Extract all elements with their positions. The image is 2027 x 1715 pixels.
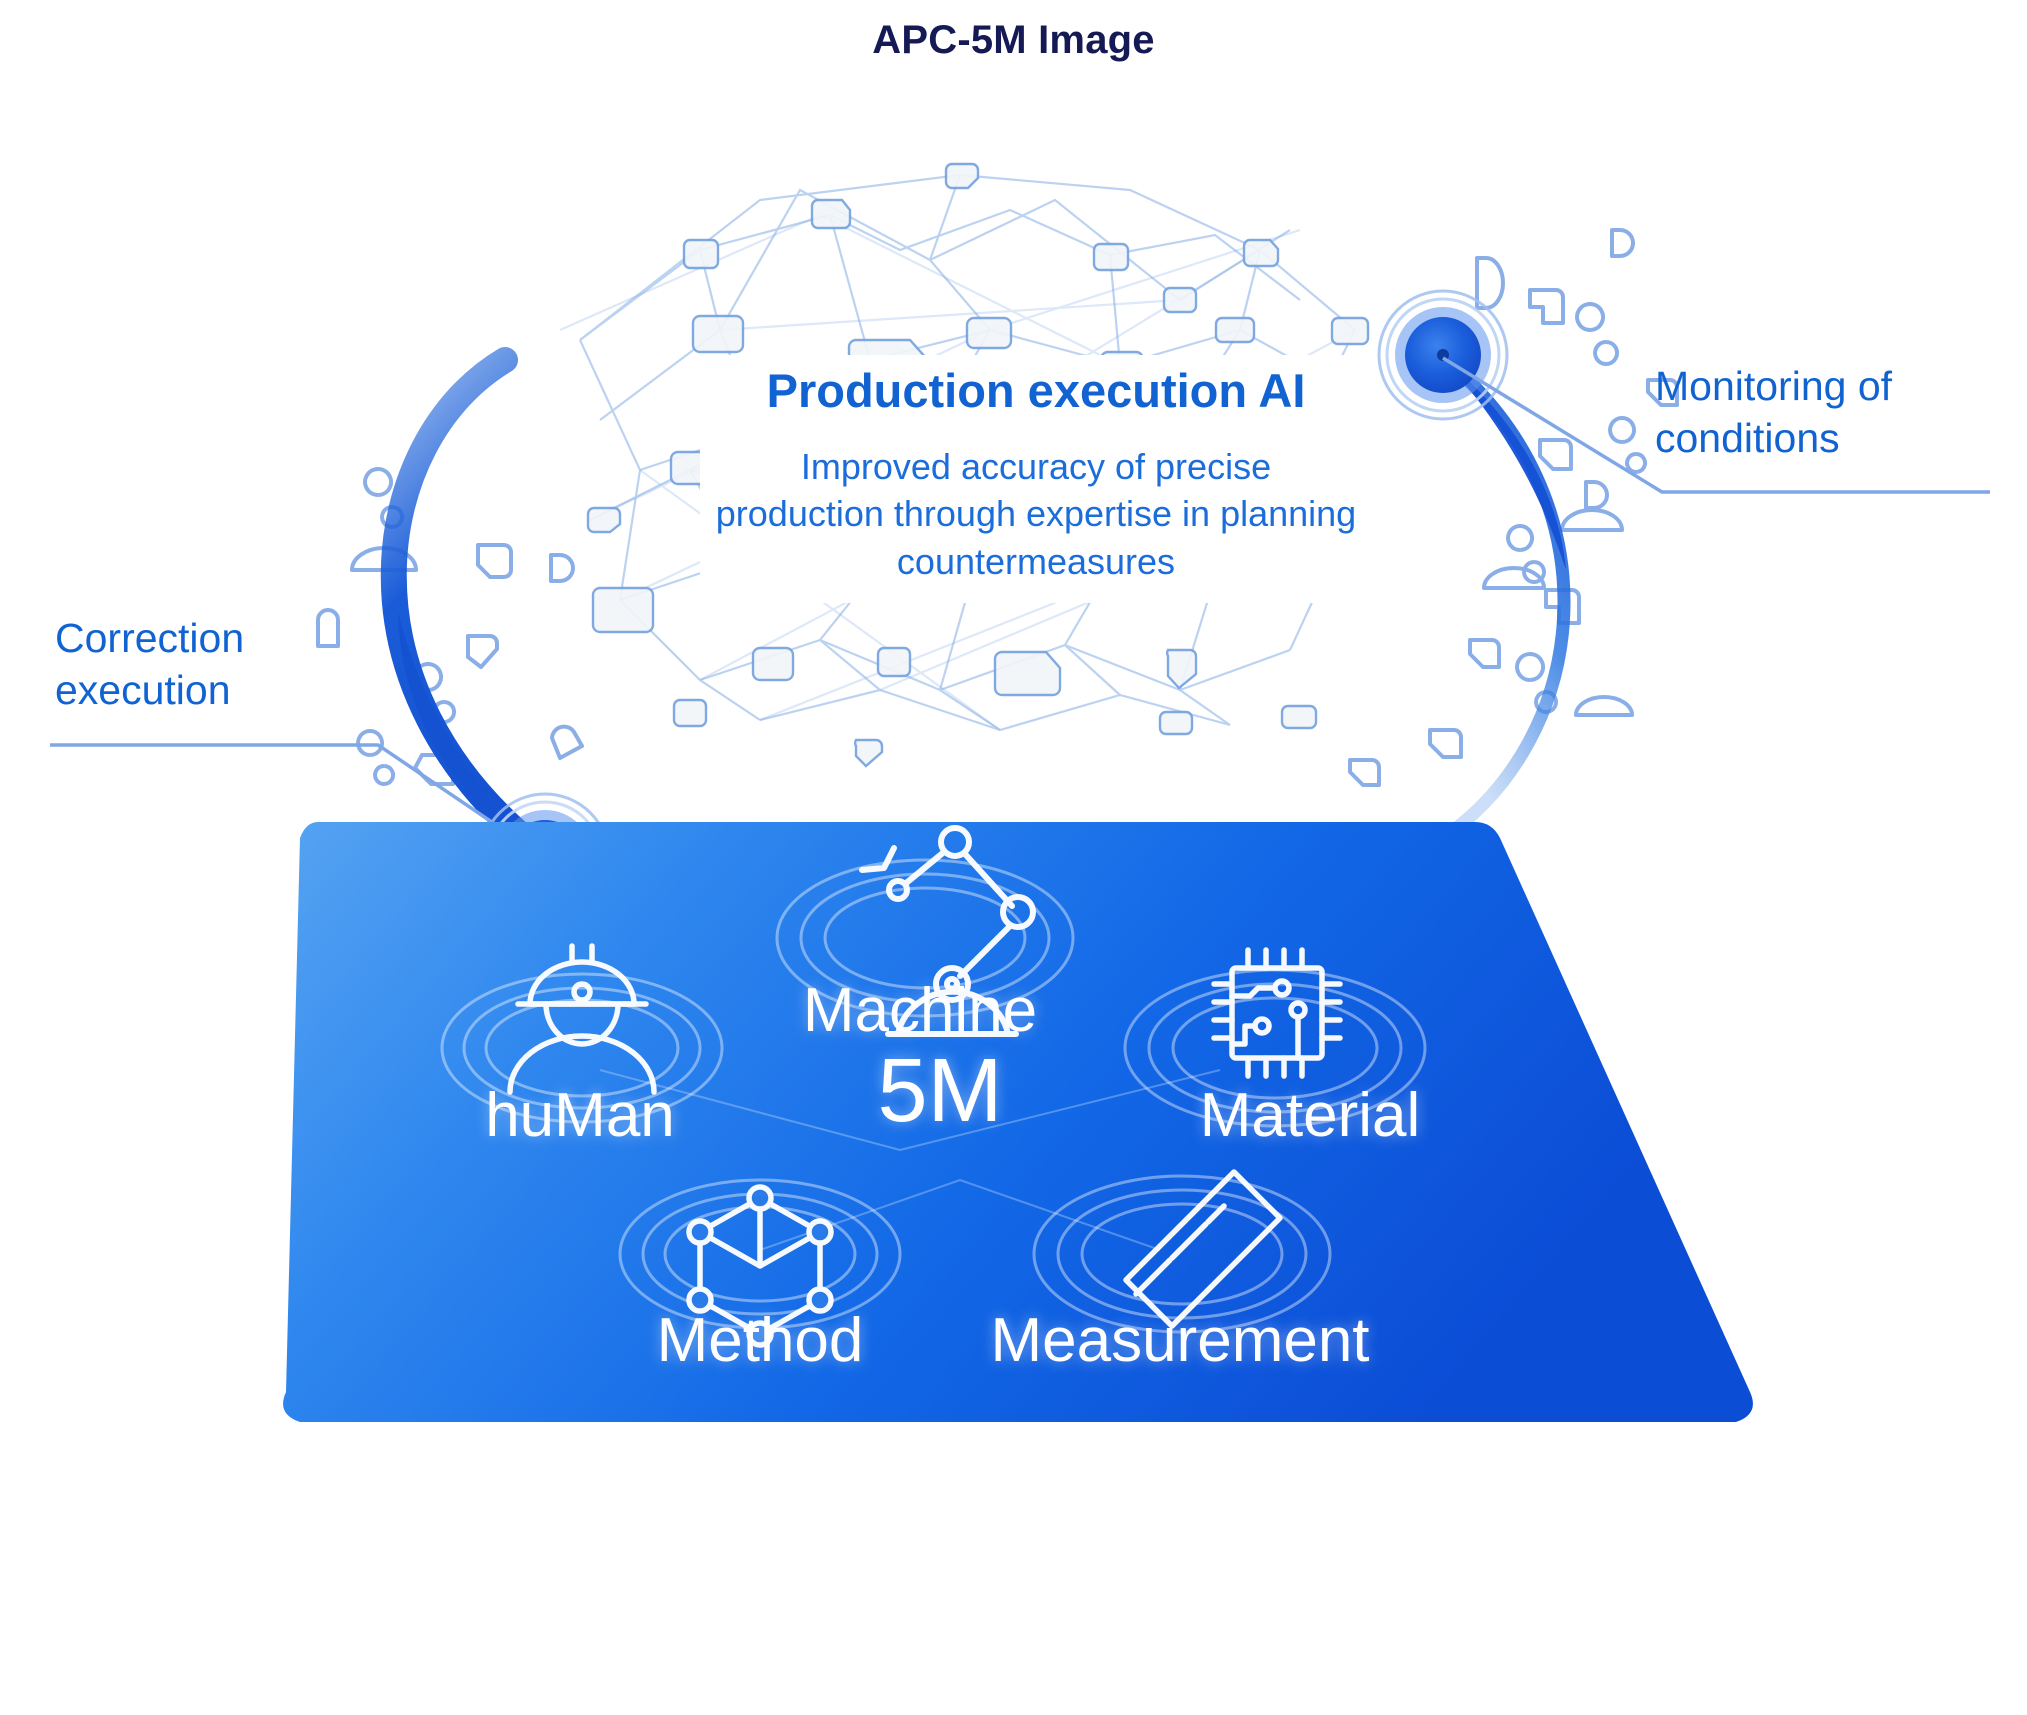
platform-label-method: Method [590, 1305, 930, 1376]
ai-panel-description: Improved accuracy of precise production … [714, 443, 1358, 586]
platform-label-machine: Machine [740, 975, 1100, 1046]
diagram-artwork [0, 0, 2027, 1715]
node-right [1379, 291, 1507, 419]
platform-label-material: Material [1110, 1080, 1510, 1151]
ai-info-panel: Production execution AI Improved accurac… [700, 355, 1372, 603]
callout-monitoring-of-conditions: Monitoring of conditions [1655, 360, 1995, 465]
diagram-canvas: APC-5M Image [0, 0, 2027, 1715]
platform-label-human: huMan [430, 1080, 730, 1151]
callout-correction-execution: Correction execution [55, 612, 395, 717]
callout-left-line1: Correction [55, 612, 395, 664]
platform-label-measurement: Measurement [900, 1305, 1460, 1376]
platform-center-label: 5M [790, 1040, 1090, 1143]
callout-right-line2: conditions [1655, 412, 1995, 464]
callout-right-line1: Monitoring of [1655, 360, 1995, 412]
ai-panel-heading: Production execution AI [714, 365, 1358, 417]
callout-left-line2: execution [55, 664, 395, 716]
